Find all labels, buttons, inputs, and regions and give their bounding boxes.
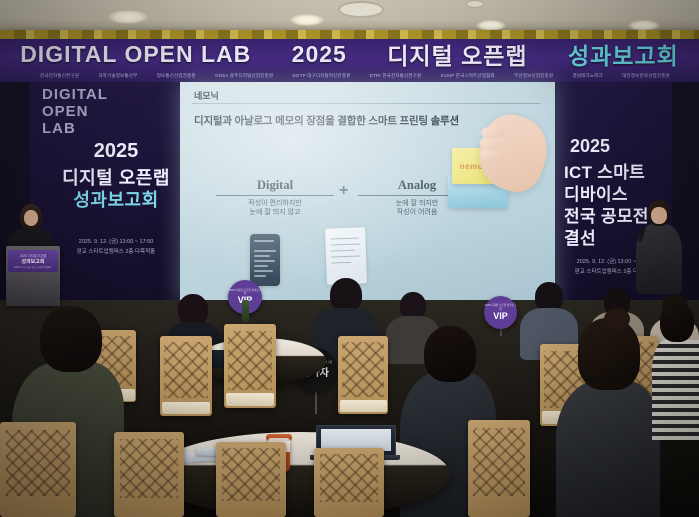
podium-sign-bottom: 2025. 9. 12. (금) 판교 스타트업캠퍼스 (14, 265, 52, 269)
column-digital: Digital 작성이 편리하지만 눈에 잘 띄지 않고 (216, 178, 334, 217)
chair-lattice (120, 439, 179, 499)
left-banner-year: 2025 (30, 140, 202, 163)
chair-front (314, 448, 384, 517)
chair-lattice (473, 428, 525, 496)
ceiling-light (108, 10, 148, 24)
left-banner-date: 2025. 9. 12. (금) 13:00 ~ 17:00 (30, 238, 202, 246)
vip-sign: 2025 디지털 오픈랩 성과보고회 VIP (484, 296, 517, 329)
ceiling-light (290, 14, 324, 26)
round-table-front (150, 432, 450, 517)
column-digital-title: Digital (216, 178, 334, 193)
smartphone-mockup (250, 234, 280, 286)
column-digital-underline (216, 195, 334, 196)
chair-front (114, 432, 184, 517)
slide-divider (192, 103, 540, 104)
audience-head-front (40, 306, 102, 372)
column-analog-desc2: 작성이 어려움 (358, 208, 476, 217)
chair-lattice (320, 454, 379, 502)
chair (160, 336, 212, 416)
banner-title-en: DIGITAL OPEN LAB (20, 41, 251, 68)
sponsor-logo: 과학기술정보통신부 (98, 73, 137, 79)
audience-head (330, 278, 362, 312)
vip-sign-caption: 2025 디지털 오픈랩 성과보고회 (484, 304, 517, 311)
chair-seat (162, 402, 211, 415)
vip-sign-label: VIP (493, 311, 508, 321)
plus-operator: + (339, 182, 348, 200)
audience-head-front (578, 318, 640, 390)
projection-screen: 네모닉 디지털과 아날로그 메모의 장점을 결합한 스마트 프린팅 솔루션 Di… (180, 82, 555, 304)
water-bottle (242, 300, 249, 322)
podium-sign-main: 성과보고회 (21, 258, 44, 265)
participant-sign-post (315, 392, 317, 414)
right-banner-year: 2025 (570, 136, 672, 157)
paper-note-mockup (325, 227, 367, 284)
chair-seat (226, 393, 275, 406)
sponsor-logo: KoSIP 한국스마트산업협회 (441, 73, 495, 79)
banner-title-year: 2025 (292, 41, 347, 68)
vip-sign-caption: 2025 디지털 오픈랩 성과보고회 (228, 289, 262, 296)
ceiling-speaker (466, 0, 484, 8)
chair-lattice (222, 448, 281, 501)
chair (224, 324, 276, 408)
sponsor-logo: DGTP 대구디지털혁신진흥원 (292, 73, 350, 79)
sponsor-logo: 한국전자통신연구원 (40, 73, 79, 79)
column-digital-desc2: 눈에 잘 띄지 않고 (216, 208, 334, 217)
banner-title: DIGITAL OPEN LAB 2025 디지털 오픈랩 성과보고회 (0, 39, 699, 69)
chair-seat (340, 400, 387, 412)
slide-subtitle: 디지털과 아날로그 메모의 장점을 결합한 스마트 프린팅 솔루션 (194, 113, 539, 128)
conference-photo-scene: DIGITAL OPEN LAB 2025 디지털 오픈랩 성과보고회 한국전자… (0, 0, 699, 517)
sponsor-logo: 정보통신산업진흥원 (157, 73, 196, 79)
banner-title-kr: 디지털 오픈랩 (387, 37, 527, 71)
main-stage-banner: DIGITAL OPEN LAB 2025 디지털 오픈랩 성과보고회 한국전자… (0, 30, 699, 82)
ceiling-speaker (338, 1, 384, 18)
audience-torso-front (556, 380, 660, 517)
sponsor-logo: GDSA 광주디지털산업진흥원 (215, 73, 273, 79)
audience-head-front (424, 326, 476, 382)
sponsor-logo: 경남테크노파크 (572, 73, 602, 79)
left-banner-en: DIGITAL OPEN LAB (42, 86, 108, 137)
left-banner-en-3: LAB (42, 120, 108, 137)
chair (338, 336, 388, 414)
sponsor-logo: ETRI 한국전자통신연구원 (370, 73, 422, 79)
audience-torso-front (652, 340, 699, 440)
mc-face (24, 210, 38, 226)
chair-lattice (6, 430, 70, 497)
hair-bun (604, 308, 630, 330)
presenter-face (651, 207, 667, 224)
chair-lattice (342, 342, 384, 397)
sponsor-logo: 부산정보산업진흥원 (514, 73, 553, 79)
audience-head-front (660, 302, 694, 342)
left-banner-en-2: OPEN (42, 103, 108, 120)
slide-heading: 네모닉 (194, 89, 219, 102)
column-digital-desc1: 작성이 편리하지만 (216, 199, 334, 208)
chair-lattice (228, 331, 272, 390)
left-banner-line2: 성과보고회 (30, 186, 202, 212)
chair-lattice (164, 342, 208, 398)
left-banner-en-1: DIGITAL (42, 86, 108, 103)
chair-front (468, 420, 530, 517)
chair-front (0, 422, 76, 517)
sponsor-logo-row: 한국전자통신연구원 과학기술정보통신부 정보통신산업진흥원 GDSA 광주디지털… (40, 71, 670, 81)
chair-front (216, 442, 286, 517)
banner-title-highlight: 성과보고회 (568, 37, 679, 71)
sponsor-logo: 대전정보문화산업진흥원 (622, 73, 670, 79)
podium-sign: 2025 디지털 오픈랩 성과보고회 2025. 9. 12. (금) 판교 스… (8, 250, 58, 272)
